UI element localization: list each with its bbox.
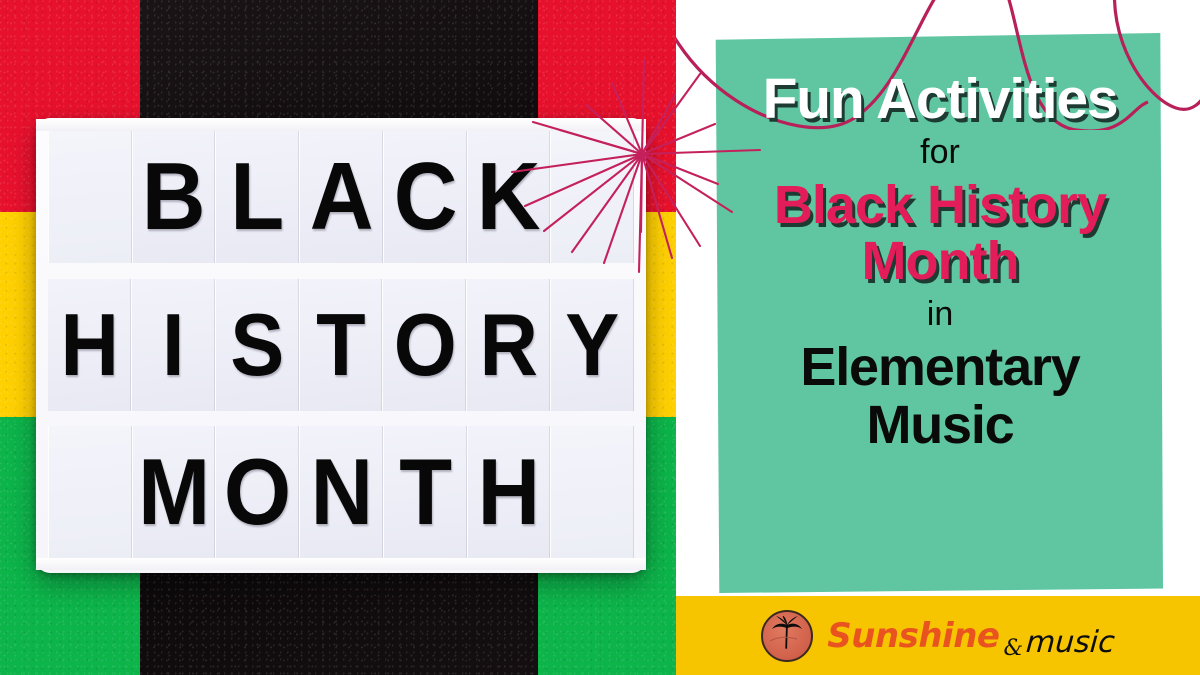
letter-tile: T (299, 279, 383, 411)
headline-black-history: Black History Month (700, 178, 1180, 289)
headline-fun-activities: Fun Activities (700, 70, 1180, 128)
lightbox-row-black: B L A C K (48, 131, 634, 263)
letter-tile: B (132, 131, 216, 263)
letter-tile: R (466, 279, 550, 411)
letter-glyph: S (230, 301, 283, 389)
letter-glyph: L (231, 149, 284, 245)
lightbox-sign: B L A C K H I S T O R Y M O N (36, 118, 646, 573)
brand-wordmark: Sunshine & music (827, 619, 1115, 653)
brand-ampersand: & (1003, 638, 1023, 660)
headline-in: in (700, 291, 1180, 339)
lightbox-photo: B L A C K H I S T O R Y M O N (0, 0, 676, 675)
letter-glyph: N (310, 445, 372, 539)
letter-glyph: O (393, 301, 455, 389)
letter-glyph: T (316, 301, 365, 389)
headline-music: Music (700, 396, 1180, 455)
letter-tile: C (383, 131, 467, 263)
letter-tile: Y (550, 279, 634, 411)
letter-glyph: Y (566, 301, 619, 389)
letter-tile (550, 131, 634, 263)
poster-canvas: B L A C K H I S T O R Y M O N (0, 0, 1200, 675)
letter-tile: H (467, 426, 551, 558)
headline-block: Fun Activities for Black History Month i… (700, 70, 1180, 455)
letter-tile: O (382, 279, 466, 411)
brand-sunshine-text: Sunshine (827, 619, 999, 653)
palm-tree-icon (767, 616, 807, 656)
letter-glyph: C (393, 149, 456, 245)
headline-for: for (700, 130, 1180, 176)
letter-glyph: H (478, 445, 540, 539)
letter-tile: S (215, 279, 299, 411)
letter-tile (48, 426, 132, 558)
headline-black-history-line1: Black History (774, 175, 1106, 235)
headline-black-history-line2: Month (700, 234, 1180, 290)
brand-footer-bar: Sunshine & music (676, 596, 1200, 675)
letter-tile: N (299, 426, 383, 558)
lightbox-row-month: M O N T H (48, 426, 634, 558)
letter-glyph: O (224, 445, 290, 539)
headline-elementary: Elementary (700, 339, 1180, 396)
lightbox-row-history: H I S T O R Y (48, 279, 634, 411)
brand-music-text: music (1025, 628, 1116, 658)
letter-tile: M (132, 426, 216, 558)
letter-glyph: I (162, 301, 184, 389)
letter-tile: I (131, 279, 215, 411)
letter-tile: A (299, 131, 383, 263)
letter-glyph: R (479, 301, 537, 389)
palm-tree-circle-icon (761, 610, 813, 662)
letter-tile: L (215, 131, 299, 263)
letter-tile: T (383, 426, 467, 558)
letter-glyph: B (142, 149, 205, 245)
letter-glyph: T (399, 445, 451, 539)
letter-tile (48, 131, 132, 263)
letter-tile: O (215, 426, 299, 558)
letter-tile: K (467, 131, 551, 263)
letter-glyph: A (310, 149, 373, 245)
letter-glyph: H (60, 301, 118, 389)
letter-tile (550, 426, 634, 558)
lightbox-rail (36, 119, 646, 131)
letter-glyph: K (477, 149, 540, 245)
letter-glyph: M (138, 445, 209, 539)
letter-tile: H (48, 279, 131, 411)
lightbox-rail (36, 558, 646, 570)
